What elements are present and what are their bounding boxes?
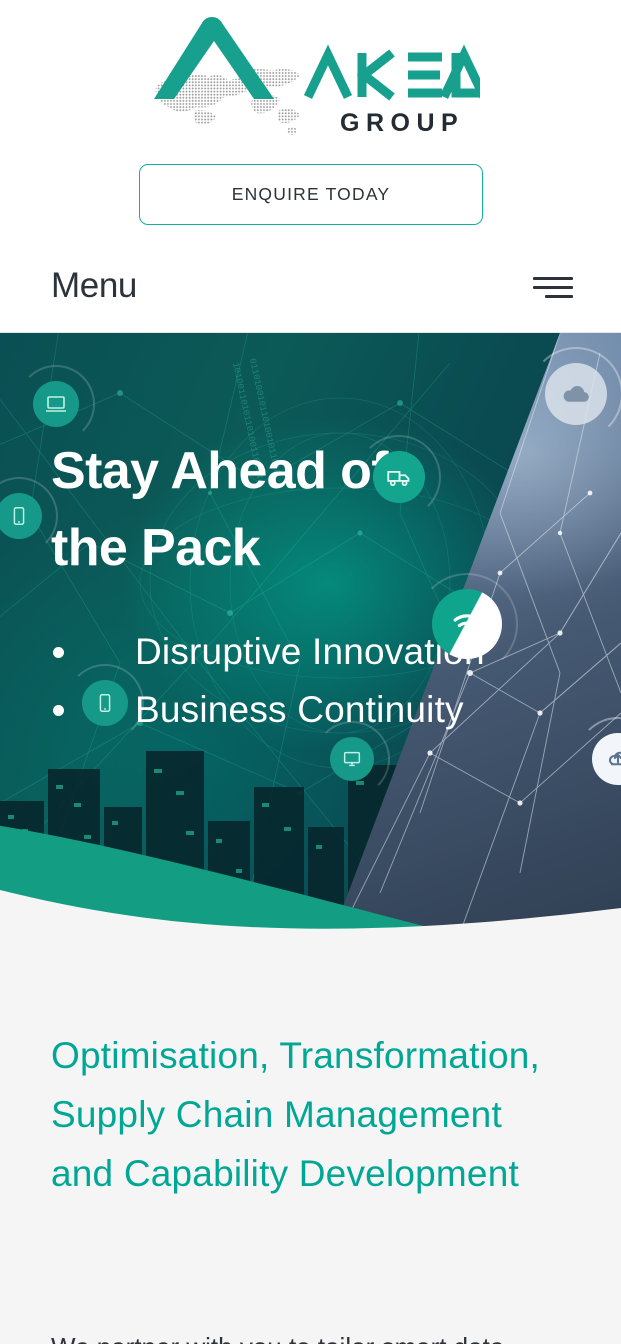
icon-disc (33, 381, 79, 427)
icon-disc (432, 589, 502, 659)
hero-bullet-label: Business Continuity (135, 689, 464, 730)
site-header: GROUP ENQUIRE TODAY Menu (0, 0, 621, 333)
icon-disc (545, 363, 607, 425)
wifi-icon (432, 589, 502, 659)
enquire-today-button[interactable]: ENQUIRE TODAY (139, 164, 483, 225)
hamburger-line-2 (533, 286, 573, 289)
cloud-icon (545, 363, 607, 425)
bullet-dot (53, 705, 64, 716)
cloud-upload-icon (592, 733, 621, 785)
page-title: Optimisation, Transformation, Supply Cha… (51, 1026, 551, 1203)
hero-bottom-curve (0, 812, 621, 941)
page-root: GROUP ENQUIRE TODAY Menu (0, 0, 621, 1344)
smartphone-icon-2 (82, 680, 128, 726)
intro-section: Optimisation, Transformation, Supply Cha… (0, 941, 621, 1344)
hero-title: Stay Ahead of the Pack (51, 433, 521, 587)
site-logo[interactable]: GROUP (0, 12, 621, 142)
hamburger-line-3 (545, 295, 573, 298)
group-wordmark: GROUP (340, 109, 464, 137)
menu-bar: Menu (0, 248, 621, 333)
monitor-icon (330, 737, 374, 781)
menu-label[interactable]: Menu (51, 265, 137, 307)
icon-disc (373, 451, 425, 503)
akela-chevron-globe-logo: GROUP (142, 13, 480, 141)
logo-svg: GROUP (142, 13, 480, 141)
hamburger-line-1 (533, 277, 573, 280)
icon-disc (82, 680, 128, 726)
smartphone-icon (0, 493, 42, 539)
hero-title-line-1: Stay Ahead of (51, 433, 521, 510)
truck-icon (373, 451, 425, 503)
hero-banner: 1010011010110100110101 01101001011010010… (0, 333, 621, 941)
bullet-dot (53, 647, 64, 658)
hamburger-menu-icon[interactable] (533, 275, 573, 303)
intro-paragraph: We partner with you to tailor smart data (51, 1326, 561, 1344)
laptop-icon (33, 381, 79, 427)
icon-disc (330, 737, 374, 781)
